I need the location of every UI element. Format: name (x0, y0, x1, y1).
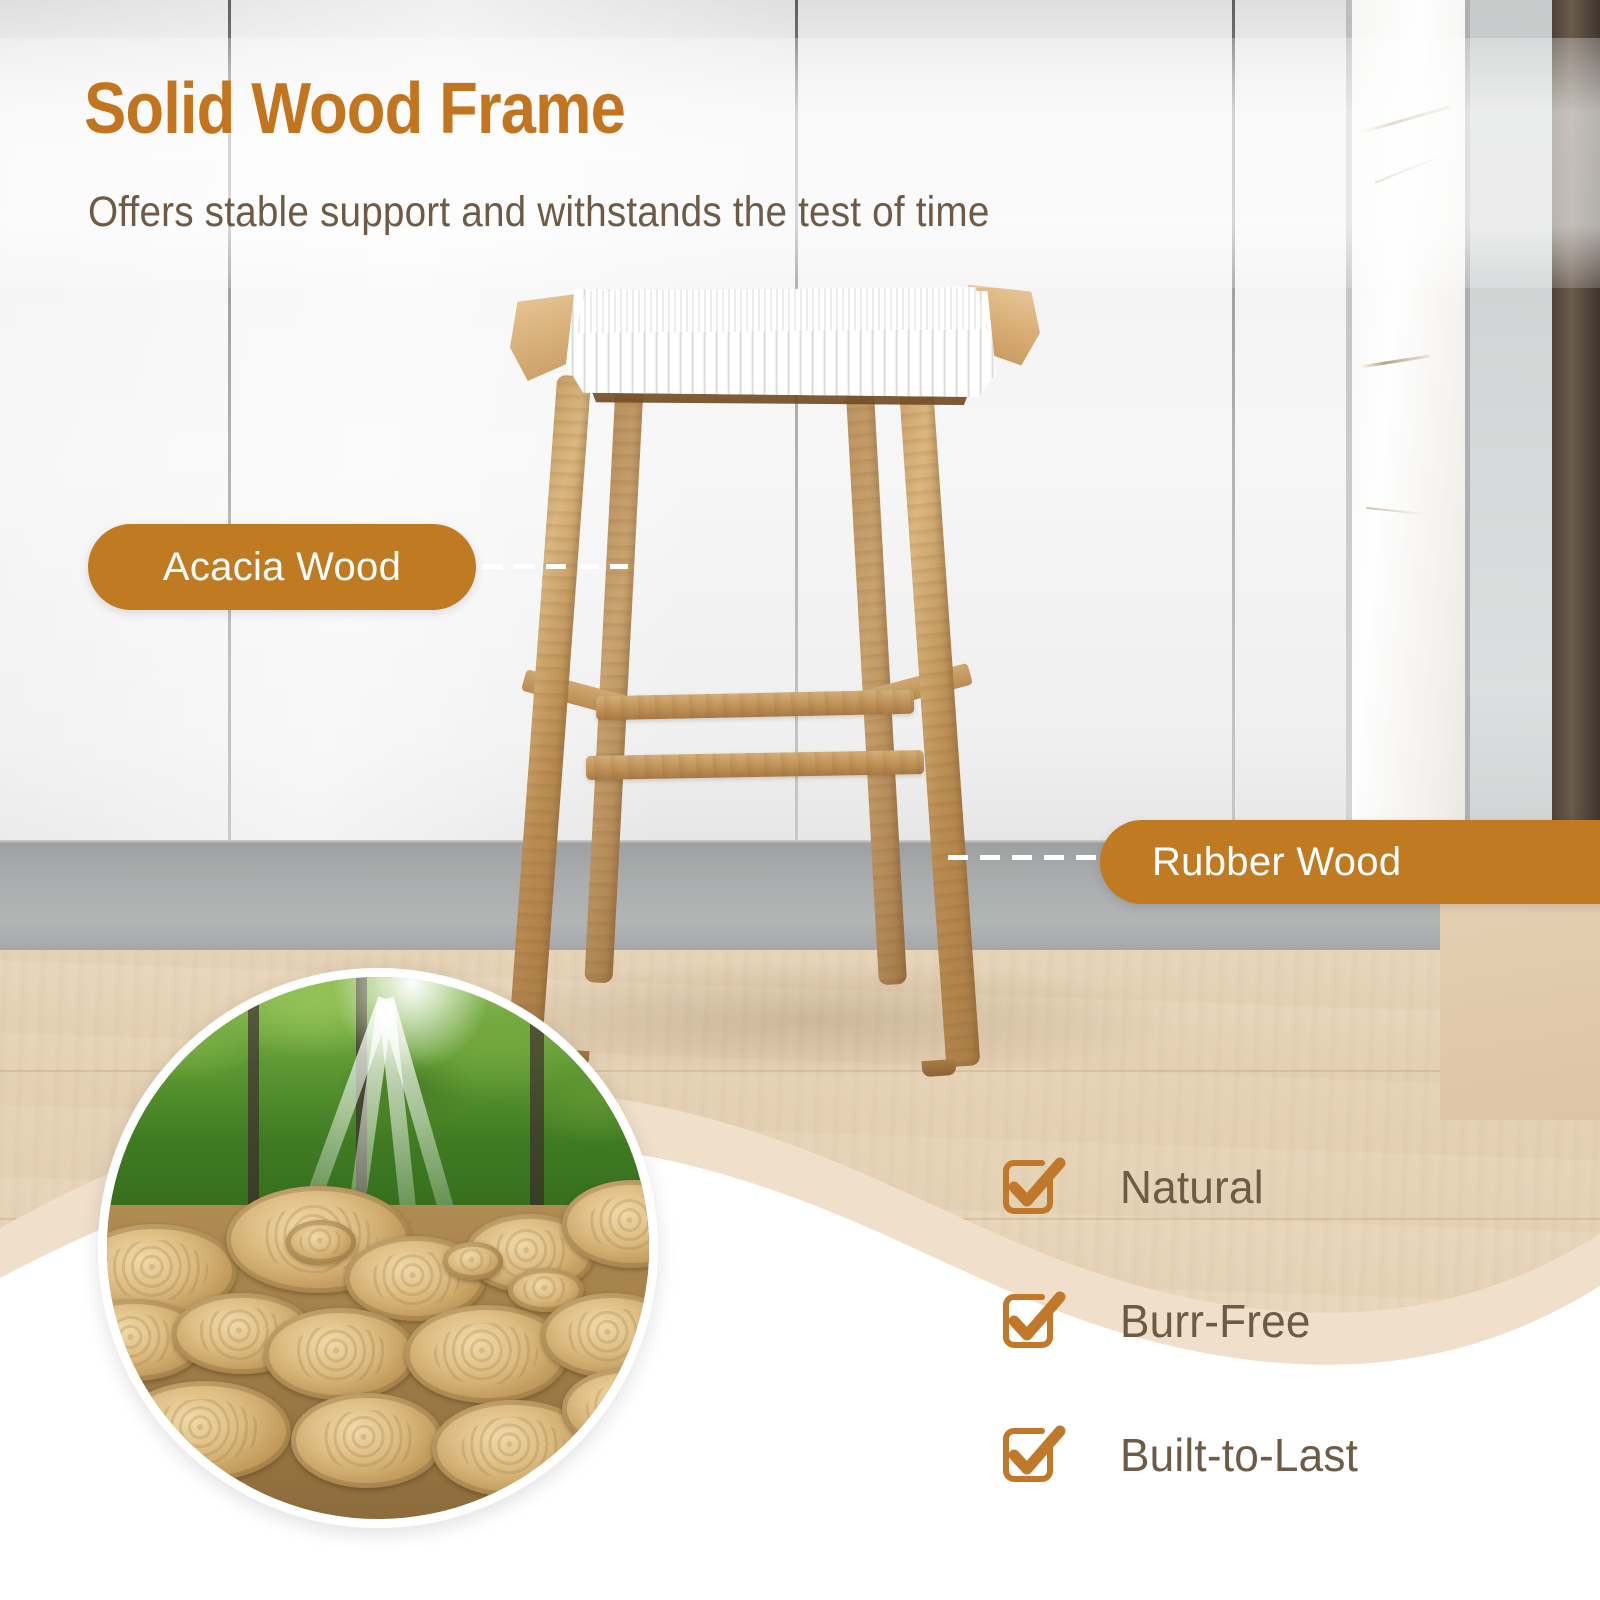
stool-leg-front-left (507, 375, 591, 1066)
stool-woven-seat-top (574, 287, 988, 333)
feature-checklist: Natural Burr-Free Built-to-Last (1000, 1120, 1520, 1522)
feature-item: Burr-Free (1000, 1254, 1520, 1388)
callout-rubber-label: Rubber Wood (1152, 840, 1401, 885)
feature-item: Natural (1000, 1120, 1520, 1254)
checkbox-check-icon (1000, 1155, 1064, 1219)
log-pile (107, 1205, 649, 1519)
bar-stool (470, 275, 1090, 1075)
log (291, 1393, 443, 1487)
page-title: Solid Wood Frame (84, 68, 625, 150)
callout-rubber-wood[interactable]: Rubber Wood (1100, 820, 1600, 904)
connector-line-acacia (482, 564, 628, 569)
callout-acacia-label: Acacia Wood (163, 545, 401, 590)
page-subtitle: Offers stable support and withstands the… (88, 188, 990, 237)
forest-logs-photo (98, 968, 658, 1528)
connector-line-rubber (948, 855, 1112, 860)
marble-vein (1366, 507, 1426, 515)
stool-leg-back-right (845, 375, 907, 986)
feature-label: Built-to-Last (1120, 1428, 1358, 1482)
callout-acacia-wood[interactable]: Acacia Wood (88, 524, 476, 610)
product-feature-banner: Solid Wood Frame Offers stable support a… (0, 0, 1600, 1600)
log (443, 1242, 503, 1280)
log (118, 1381, 291, 1482)
checkbox-check-icon (1000, 1423, 1064, 1487)
log (264, 1308, 416, 1399)
log (405, 1305, 568, 1402)
checkbox-check-icon (1000, 1289, 1064, 1353)
stool-leg-back-left (584, 383, 643, 984)
feature-item: Built-to-Last (1000, 1388, 1520, 1522)
feature-label: Burr-Free (1120, 1294, 1311, 1348)
feature-label: Natural (1120, 1160, 1264, 1214)
stool-leg-front-right (898, 367, 981, 1068)
